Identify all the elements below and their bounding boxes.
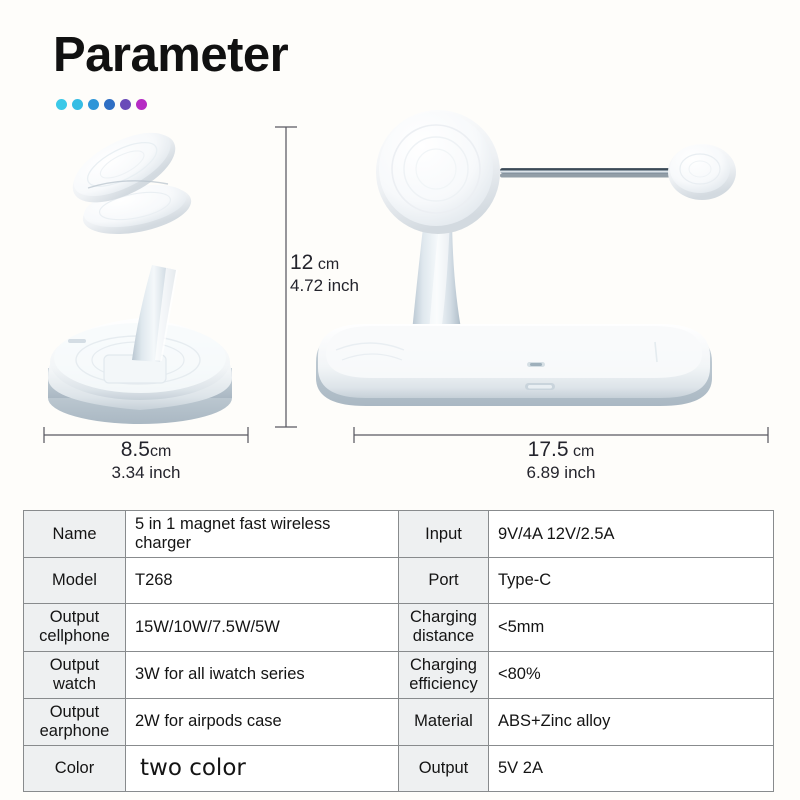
dimension-right-unit: cm <box>573 443 594 460</box>
spec-key-right: Charging efficiency <box>399 651 489 698</box>
specification-table: Name5 in 1 magnet fast wireless chargerI… <box>23 510 774 792</box>
spec-value-right: Type-C <box>489 558 774 604</box>
led-indicator <box>527 362 545 367</box>
spec-key-left: Color <box>24 746 126 792</box>
table-row: Output cellphone15W/10W/7.5W/5WCharging … <box>24 604 774 651</box>
table-row: Name5 in 1 magnet fast wireless chargerI… <box>24 511 774 558</box>
table-row: ModelT268PortType-C <box>24 558 774 604</box>
spec-value-left: 5 in 1 magnet fast wireless charger <box>126 511 399 558</box>
accent-dot-5 <box>120 99 131 110</box>
dimension-left-value: 8.5 <box>121 438 150 461</box>
dimension-label-left-width: 8.5cm 3.34 inch <box>40 437 252 483</box>
charger-side-view <box>48 119 232 424</box>
charger-front-view <box>316 110 736 406</box>
spec-key-left: Model <box>24 558 126 604</box>
accent-dot-3 <box>88 99 99 110</box>
table-row: Output watch3W for all iwatch seriesChar… <box>24 651 774 698</box>
spec-key-left: Name <box>24 511 126 558</box>
spec-value-right: ABS+Zinc alloy <box>489 698 774 745</box>
spec-key-left: Output watch <box>24 651 126 698</box>
dimension-right-inch: 6.89 inch <box>349 463 773 484</box>
spec-value-right: <80% <box>489 651 774 698</box>
accent-dot-4 <box>104 99 115 110</box>
dimension-label-right-width: 17.5 cm 6.89 inch <box>349 437 773 483</box>
accent-dot-row <box>56 99 147 110</box>
dimension-left-unit: cm <box>150 443 171 460</box>
accent-dot-2 <box>72 99 83 110</box>
spec-value-right: 5V 2A <box>489 746 774 792</box>
dimension-height-value: 12 <box>290 251 313 274</box>
specification-table-body: Name5 in 1 magnet fast wireless chargerI… <box>24 511 774 792</box>
accent-dot-6 <box>136 99 147 110</box>
spec-value-left: two color <box>126 746 399 792</box>
page-title: Parameter <box>53 31 288 80</box>
spec-value-right: <5mm <box>489 604 774 651</box>
table-row: Colortwo colorOutput5V 2A <box>24 746 774 792</box>
spec-key-right: Charging distance <box>399 604 489 651</box>
spec-value-left: 15W/10W/7.5W/5W <box>126 604 399 651</box>
spec-key-right: Port <box>399 558 489 604</box>
dimension-left-inch: 3.34 inch <box>40 463 252 484</box>
spec-key-right: Output <box>399 746 489 792</box>
spec-key-right: Input <box>399 511 489 558</box>
dimension-right-value: 17.5 <box>528 438 569 461</box>
usb-c-port <box>525 383 555 390</box>
dimension-height-unit: cm <box>318 256 339 273</box>
dimension-height-inch: 4.72 inch <box>290 276 359 297</box>
spec-value-right: 9V/4A 12V/2.5A <box>489 511 774 558</box>
spec-key-right: Material <box>399 698 489 745</box>
table-row: Output earphone2W for airpods caseMateri… <box>24 698 774 745</box>
spec-value-left: T268 <box>126 558 399 604</box>
spec-key-left: Output earphone <box>24 698 126 745</box>
dimension-label-height: 12 cm 4.72 inch <box>290 250 359 296</box>
spec-value-left: 2W for airpods case <box>126 698 399 745</box>
accent-dot-1 <box>56 99 67 110</box>
spec-value-left: 3W for all iwatch series <box>126 651 399 698</box>
spec-key-left: Output cellphone <box>24 604 126 651</box>
